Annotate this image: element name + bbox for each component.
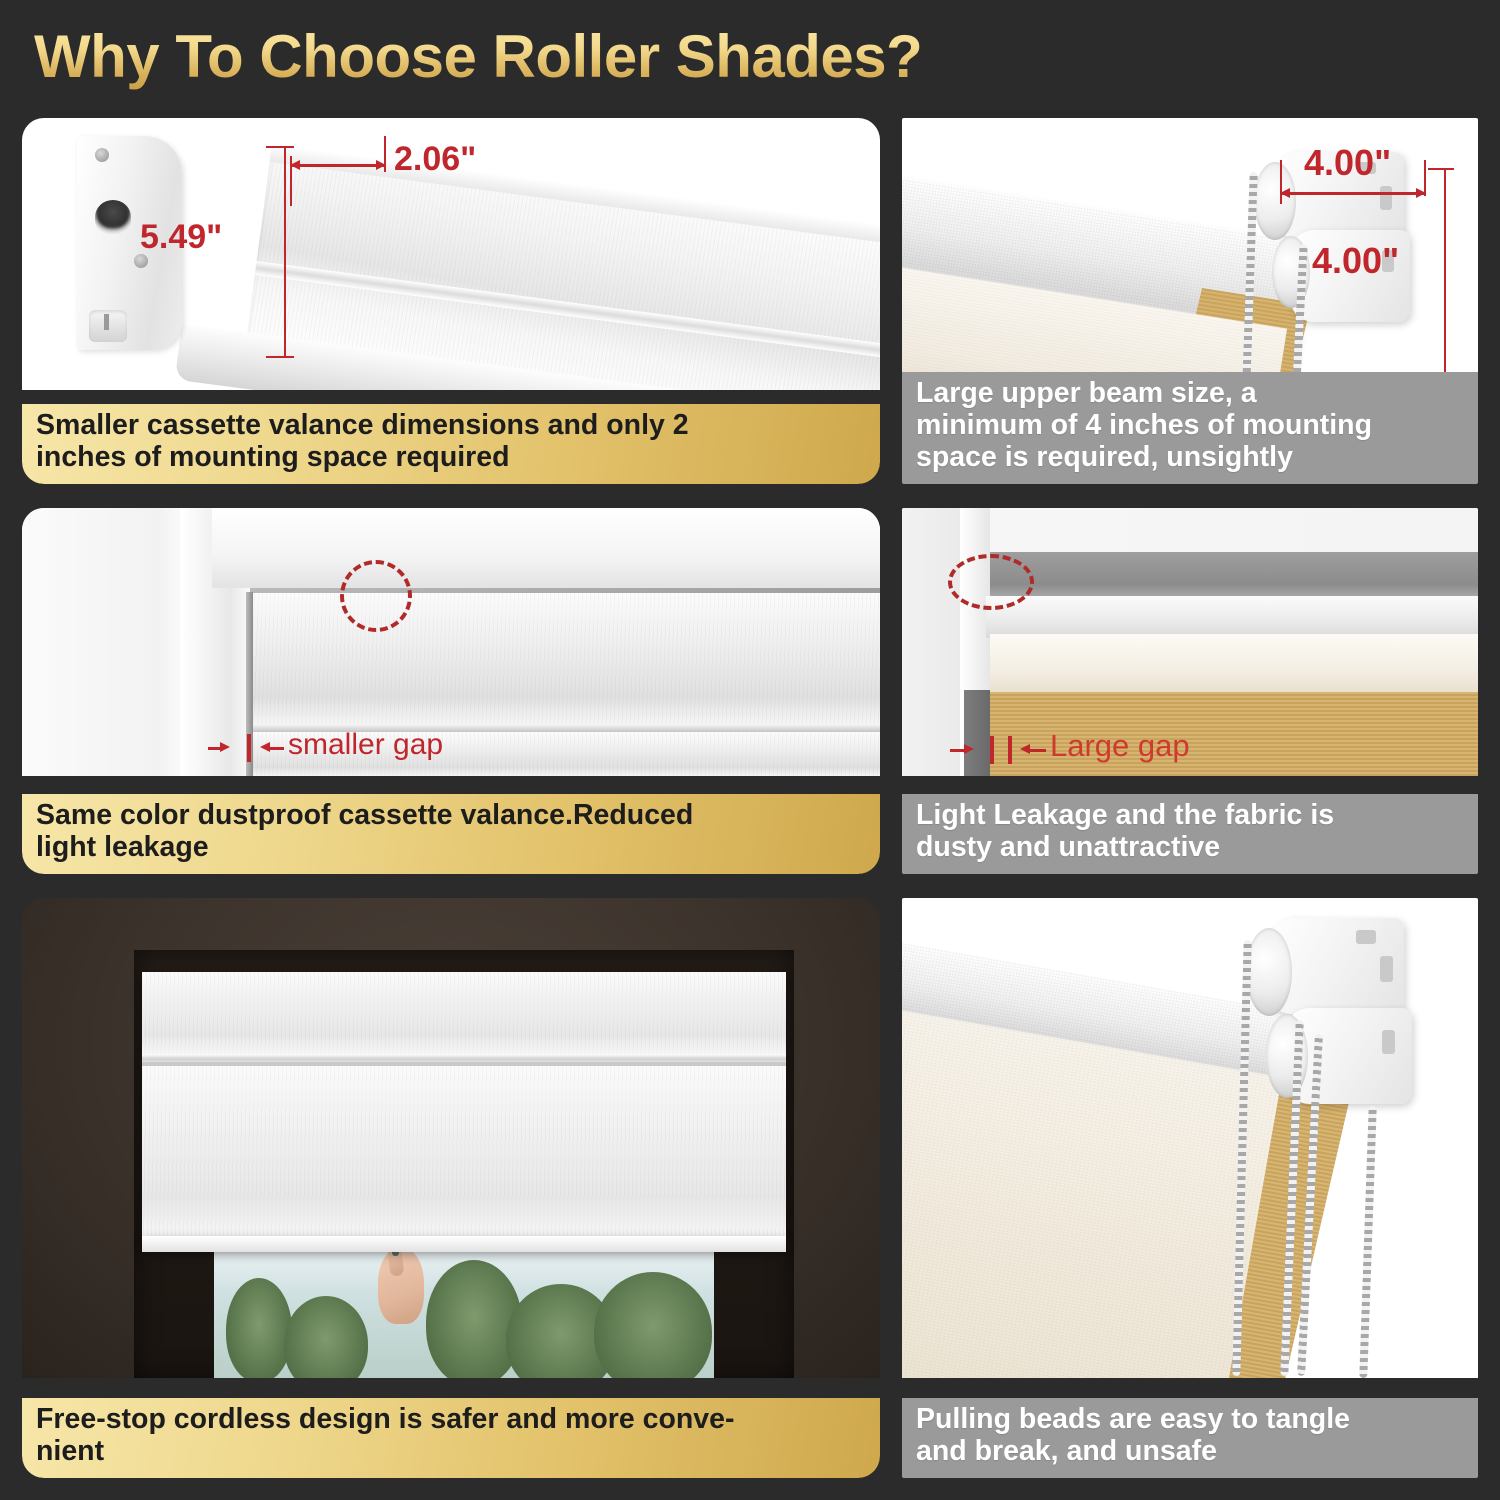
tree-icon [594,1272,712,1378]
dim-tick-top [266,146,294,148]
gap-arrow-left [1020,744,1030,754]
gap-arrow-tail [208,747,222,750]
gap-marker [247,734,251,762]
highlight-circle [340,560,412,632]
caption-line-1: Pulling beads are easy to tangle [916,1404,1350,1436]
panel-cordless-design: Free-stop cordless design is safer and m… [22,898,880,1478]
dim-extension-line [1424,160,1426,196]
gap-arrow-tail [270,747,284,750]
cassette-valance-illustration: 2.06" 5.49" [22,118,880,390]
panel-1-photo: 2.06" 5.49" [22,118,880,390]
gap-arrow-tail [950,749,966,752]
window-head-trim [212,508,880,588]
panel-3-caption: Same color dustproof cassette valance.Re… [22,794,880,874]
panel-smaller-cassette: 2.06" 5.49" Smaller cassette valance dim… [22,118,880,484]
panel-4-photo: Large gap [902,508,1478,776]
panel-large-upper-beam: 4.00" 4.00" Large upper beam size, a min… [902,118,1478,484]
tree-icon [426,1260,522,1378]
panel-3-photo: smaller gap [22,508,880,776]
dim-line-vertical [284,146,286,358]
panel-2-caption: Large upper beam size, a minimum of 4 in… [902,372,1478,484]
roller-end-cap [1254,162,1296,240]
caption-line-2: dusty and unattractive [916,832,1334,864]
dim-tick-top [1428,168,1454,170]
bead-chain [1359,1106,1376,1378]
roller-end-cap [1246,928,1292,1016]
highlight-circle [948,554,1034,610]
caption-line-1: Light Leakage and the fabric is [916,800,1334,832]
panel-6-photo [902,898,1478,1378]
caption-line-2: inches of mounting space required [36,442,689,474]
caption-line-2: and break, and unsafe [916,1436,1350,1468]
panel-dustproof-valance: smaller gap Same color dustproof cassett… [22,508,880,874]
panel-2-photo: 4.00" 4.00" [902,118,1478,386]
gap-arrow-tail [1030,749,1046,752]
mount-base [89,310,127,342]
dim-line-horizontal [1280,192,1426,195]
gap-arrow-left [260,742,270,752]
bracket-slot [1380,956,1393,982]
caption-line-1: Free-stop cordless design is safer and m… [36,1404,734,1436]
cassette-valance [142,972,786,1056]
window-recess [134,950,794,1378]
caption-line-3: space is required, unsightly [916,442,1372,474]
window-glass [214,1250,714,1378]
comparison-grid: 2.06" 5.49" Smaller cassette valance dim… [0,0,1500,1500]
dimension-label-width: 2.06" [394,140,476,179]
gap-marker [1008,736,1012,764]
knob-icon [95,200,131,234]
gap-label: smaller gap [288,728,443,762]
dimension-label-height: 4.00" [1312,240,1399,282]
gap-marker [990,736,994,764]
bottom-rail [990,634,1478,692]
gap-label: Large gap [1050,728,1190,764]
gap-strip [964,690,990,776]
bottom-rail [142,1236,786,1252]
panel-light-leakage: Large gap Light Leakage and the fabric i… [902,508,1478,874]
dim-tick-bottom [266,356,294,358]
dim-extension-line [384,136,386,172]
shade-fabric-upper [142,1064,786,1242]
panel-pulling-beads: Pulling beads are easy to tangle and bre… [902,898,1478,1478]
caption-line-1: Same color dustproof cassette valance.Re… [36,800,693,832]
dimension-label-height: 5.49" [140,218,222,257]
panel-1-caption: Smaller cassette valance dimensions and … [22,404,880,484]
tree-icon [226,1278,292,1378]
caption-line-2: light leakage [36,832,693,864]
caption-line-1: Large upper beam size, a [916,378,1372,410]
roller-tube [986,596,1478,638]
panel-6-caption: Pulling beads are easy to tangle and bre… [902,1398,1478,1478]
bracket-slot [1356,930,1376,944]
dim-arrow-left [1280,188,1290,198]
bracket-slot [1380,186,1392,210]
shade-seam [142,1062,786,1066]
bracket-slot [1382,1030,1395,1054]
screw-icon [95,148,109,162]
dimension-label-width: 4.00" [1304,142,1391,184]
caption-line-2: minimum of 4 inches of mounting [916,410,1372,442]
dim-arrow-left [290,160,300,170]
caption-line-2: nient [36,1436,734,1468]
panel-5-photo [22,898,880,1378]
panel-5-caption: Free-stop cordless design is safer and m… [22,1398,880,1478]
dim-line-vertical [1444,168,1446,378]
caption-line-1: Smaller cassette valance dimensions and … [36,410,689,442]
panel-4-caption: Light Leakage and the fabric is dusty an… [902,794,1478,874]
tree-icon [284,1296,368,1378]
dim-line-horizontal [290,164,386,167]
